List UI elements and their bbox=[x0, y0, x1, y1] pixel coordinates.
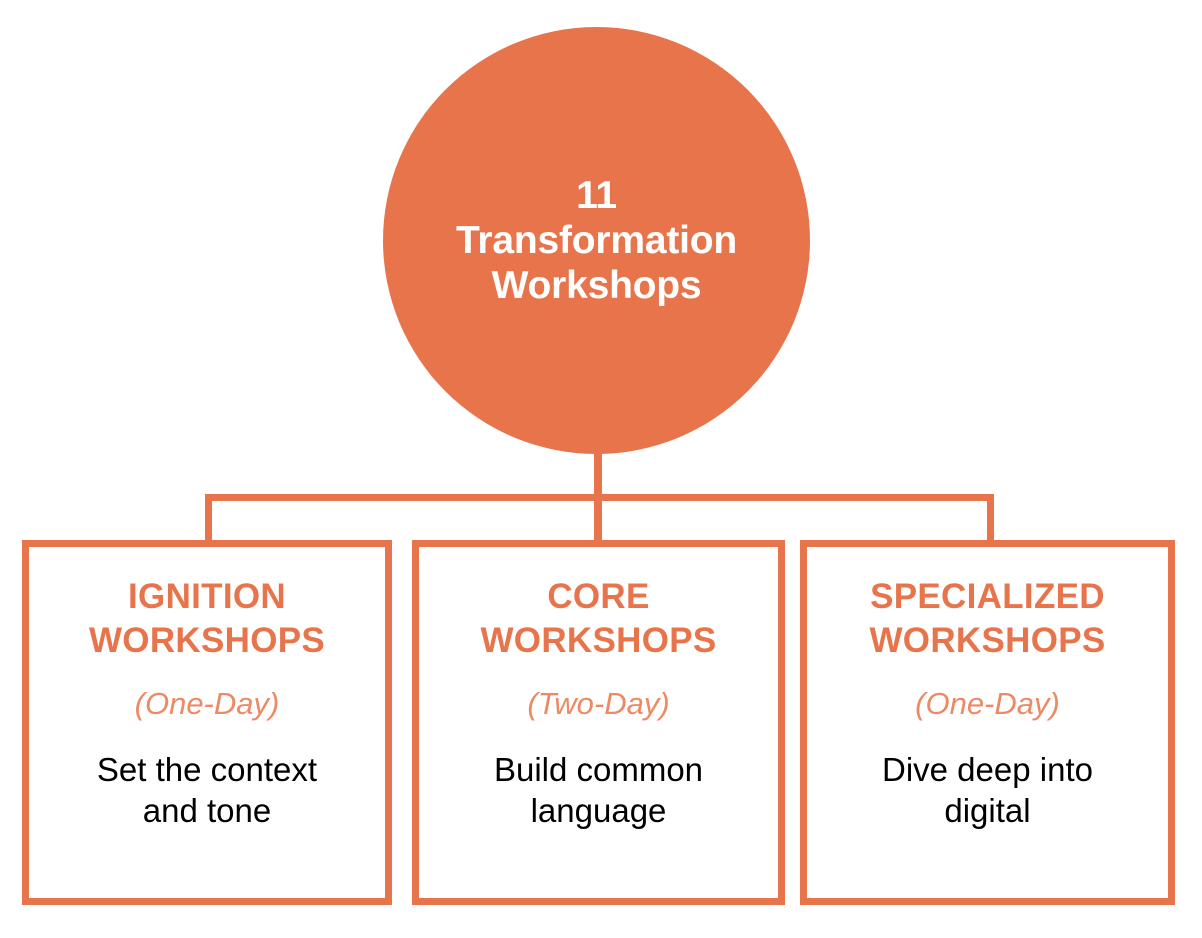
workshop-duration: (One-Day) bbox=[135, 685, 280, 723]
workshop-title-line-2: WORKSHOPS bbox=[869, 621, 1105, 660]
connector-drop-specialized bbox=[987, 494, 994, 544]
workshop-description: Dive deep into digital bbox=[872, 749, 1103, 831]
workshop-description-line-2: language bbox=[531, 792, 667, 829]
workshop-description-line-2: digital bbox=[944, 792, 1030, 829]
root-node-title-line-1: Transformation bbox=[456, 218, 737, 263]
workshop-description: Build common language bbox=[484, 749, 713, 831]
workshop-card-title: SPECIALIZED WORKSHOPS bbox=[863, 575, 1111, 663]
root-node-title-line-2: Workshops bbox=[492, 263, 702, 308]
workshop-card-title: IGNITION WORKSHOPS bbox=[83, 575, 331, 663]
workshop-card-specialized[interactable]: SPECIALIZED WORKSHOPS (One-Day) Dive dee… bbox=[800, 540, 1175, 905]
root-node-count: 11 bbox=[576, 173, 617, 218]
workshop-title-line-1: SPECIALIZED bbox=[870, 577, 1105, 616]
workshop-title-line-1: IGNITION bbox=[128, 577, 286, 616]
workshop-description: Set the context and tone bbox=[87, 749, 327, 831]
workshop-duration: (Two-Day) bbox=[527, 685, 669, 723]
connector-drop-core bbox=[594, 494, 602, 544]
workshop-duration: (One-Day) bbox=[915, 685, 1060, 723]
workshop-card-title: CORE WORKSHOPS bbox=[474, 575, 722, 663]
workshop-description-line-1: Set the context bbox=[97, 751, 317, 788]
workshop-title-line-2: WORKSHOPS bbox=[480, 621, 716, 660]
workshop-card-ignition[interactable]: IGNITION WORKSHOPS (One-Day) Set the con… bbox=[22, 540, 392, 905]
workshop-description-line-2: and tone bbox=[143, 792, 271, 829]
workshop-card-core[interactable]: CORE WORKSHOPS (Two-Day) Build common la… bbox=[412, 540, 785, 905]
workshop-description-line-1: Build common bbox=[494, 751, 703, 788]
workshop-description-line-1: Dive deep into bbox=[882, 751, 1093, 788]
root-node-transformation-workshops[interactable]: 11 Transformation Workshops bbox=[383, 27, 810, 454]
workshop-title-line-1: CORE bbox=[547, 577, 649, 616]
connector-drop-ignition bbox=[205, 494, 212, 544]
diagram-canvas: 11 Transformation Workshops IGNITION WOR… bbox=[0, 0, 1202, 938]
workshop-title-line-2: WORKSHOPS bbox=[89, 621, 325, 660]
